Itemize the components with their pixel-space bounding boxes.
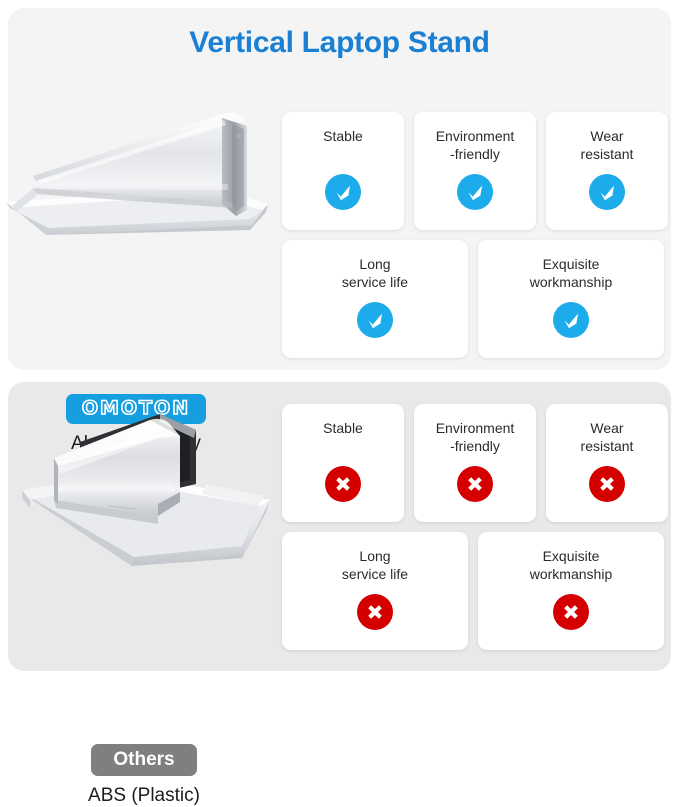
check-icon [589, 174, 625, 210]
feature-label: Exquisiteworkmanship [530, 256, 612, 291]
cross-icon [553, 594, 589, 630]
page-title: Vertical Laptop Stand [0, 26, 679, 60]
feature-card: Exquisiteworkmanship [478, 240, 664, 358]
feature-cards-others: Stable Environment-friendly Wearresistan… [282, 404, 670, 650]
feature-card: Longservice life [282, 532, 468, 650]
feature-label: Environment-friendly [436, 420, 515, 455]
feature-label: Wearresistant [581, 420, 634, 455]
feature-card: Stable [282, 404, 404, 522]
feature-card: Wearresistant [546, 112, 668, 230]
check-icon [325, 174, 361, 210]
feature-label: Stable [323, 420, 363, 455]
feature-label: Longservice life [342, 548, 408, 583]
feature-label: Environment-friendly [436, 128, 515, 163]
feature-card: Environment-friendly [414, 112, 536, 230]
cross-icon [589, 466, 625, 502]
feature-card: Environment-friendly [414, 404, 536, 522]
check-icon [457, 174, 493, 210]
feature-cards-omoton: Stable Environment-friendly Wearresistan… [282, 112, 670, 358]
feature-card: Exquisiteworkmanship [478, 532, 664, 650]
cross-icon [325, 466, 361, 502]
feature-card: Stable [282, 112, 404, 230]
cross-icon [357, 594, 393, 630]
feature-card: Longservice life [282, 240, 468, 358]
product-block-others: Others ABS (Plastic) [8, 396, 280, 671]
product-image-aluminum-stand [0, 84, 272, 244]
feature-label: Stable [323, 128, 363, 163]
cross-icon [457, 466, 493, 502]
material-label-others: ABS (Plastic) [8, 785, 280, 807]
product-image-plastic-stand [8, 396, 280, 576]
brand-block-others: Others ABS (Plastic) [8, 744, 280, 807]
feature-label: Exquisiteworkmanship [530, 548, 612, 583]
feature-card: Wearresistant [546, 404, 668, 522]
infographic-page: Vertical Laptop Stand [0, 0, 679, 679]
brand-badge-others: Others [91, 744, 196, 776]
check-icon [357, 302, 393, 338]
check-icon [553, 302, 589, 338]
feature-label: Longservice life [342, 256, 408, 291]
feature-label: Wearresistant [581, 128, 634, 163]
product-block-omoton: OMOTON Aluminum Alloy [0, 84, 272, 362]
